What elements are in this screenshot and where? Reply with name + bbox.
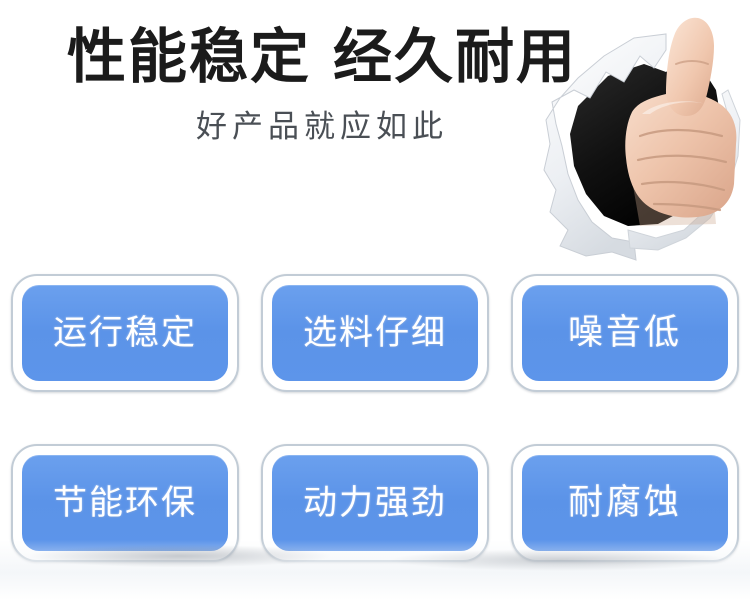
headline-part-1: 性能稳定 (67, 24, 311, 90)
feature-box-plate: 噪音低 (522, 285, 728, 381)
headline: 性能稳定经久耐用 (62, 22, 582, 92)
feature-label: 节能环保 (53, 483, 197, 523)
feature-box-donglieqiangjin[interactable]: 动力强劲 (261, 444, 489, 562)
feature-label: 动力强劲 (303, 483, 447, 523)
feature-box-plate: 动力强劲 (272, 455, 478, 551)
banner-header: 性能稳定经久耐用 好产品就应如此 (0, 0, 750, 262)
feature-box-naifushi[interactable]: 耐腐蚀 (511, 444, 739, 562)
feature-row-1: 运行稳定 选料仔细 噪音低 (0, 274, 750, 396)
feature-box-jienenghuanbao[interactable]: 节能环保 (11, 444, 239, 562)
feature-box-yunxingwending[interactable]: 运行稳定 (11, 274, 239, 392)
feature-label: 运行稳定 (53, 313, 197, 353)
thumbs-up-through-torn-paper-image (516, 0, 750, 262)
promo-banner: 性能稳定经久耐用 好产品就应如此 (0, 0, 750, 600)
feature-box-xuanliaozixi[interactable]: 选料仔细 (261, 274, 489, 392)
feature-label: 耐腐蚀 (568, 483, 682, 523)
feature-box-plate: 运行稳定 (22, 285, 228, 381)
feature-box-plate: 耐腐蚀 (522, 455, 728, 551)
feature-label: 噪音低 (568, 313, 682, 353)
feature-row-2: 节能环保 动力强劲 耐腐蚀 (0, 444, 750, 566)
feature-label: 选料仔细 (303, 313, 447, 353)
feature-grid: 运行稳定 选料仔细 噪音低 节能环保 (0, 272, 750, 572)
feature-box-zaoyindi[interactable]: 噪音低 (511, 274, 739, 392)
feature-box-plate: 节能环保 (22, 455, 228, 551)
feature-box-plate: 选料仔细 (272, 285, 478, 381)
subheadline: 好产品就应如此 (62, 106, 582, 148)
